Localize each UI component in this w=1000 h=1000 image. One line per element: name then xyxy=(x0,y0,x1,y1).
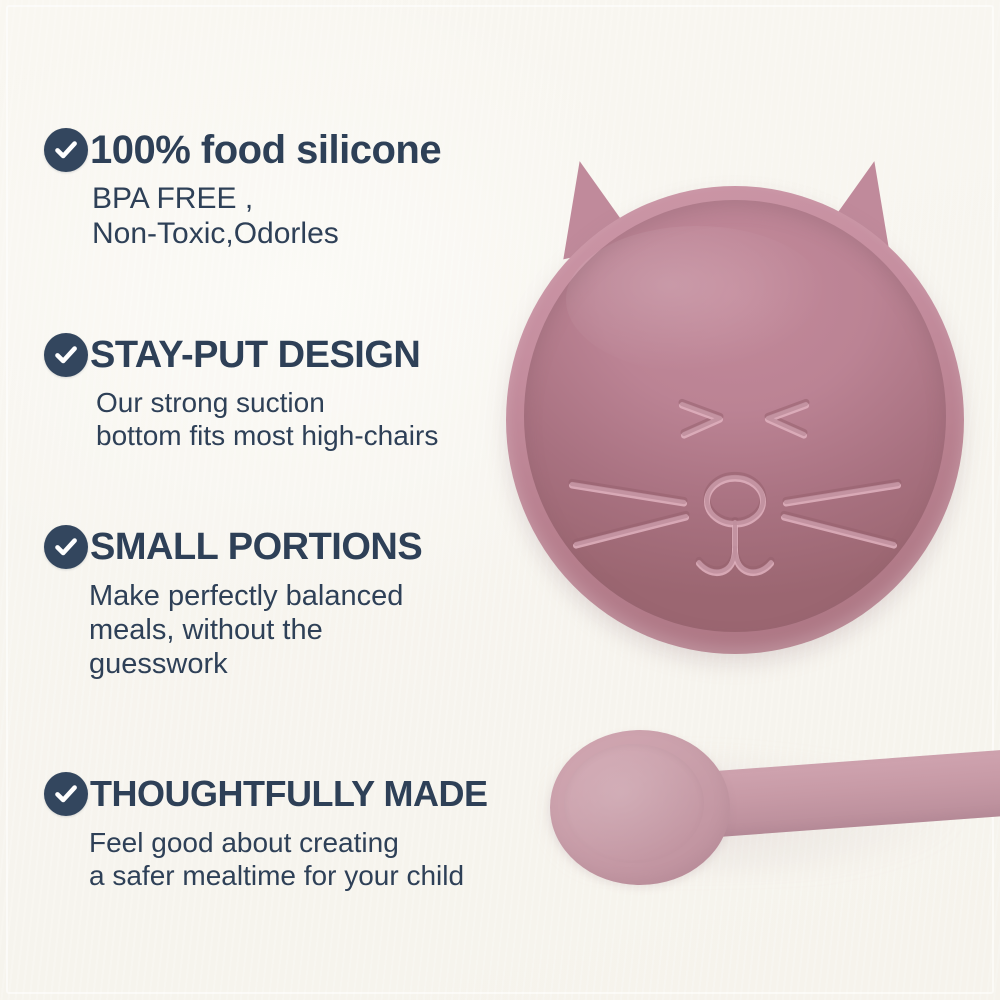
feature-item-small-portions: SMALL PORTIONS Make perfectly balanced m… xyxy=(44,525,422,682)
feature-item-thoughtfully-made: THOUGHTFULLY MADE Feel good about creati… xyxy=(44,772,488,892)
feature-item-stay-put-design: STAY-PUT DESIGN Our strong suction botto… xyxy=(44,333,438,452)
infographic-page: 100% food silicone BPA FREE , Non-Toxic,… xyxy=(0,0,1000,1000)
check-circle-icon xyxy=(44,772,88,816)
cat-bowl xyxy=(464,130,994,675)
feature-title: STAY-PUT DESIGN xyxy=(90,336,420,374)
bowl-rim xyxy=(506,186,964,654)
check-circle-icon xyxy=(44,128,88,172)
check-circle-icon xyxy=(44,333,88,377)
feature-heading-row: STAY-PUT DESIGN xyxy=(44,333,438,377)
feature-title: THOUGHTFULLY MADE xyxy=(90,776,488,812)
spoon-bowl-head xyxy=(550,730,730,885)
feature-heading-row: SMALL PORTIONS xyxy=(44,525,422,569)
feature-item-food-silicone: 100% food silicone BPA FREE , Non-Toxic,… xyxy=(44,128,441,252)
bowl-interior xyxy=(524,200,946,632)
feature-description: BPA FREE , Non-Toxic,Odorles xyxy=(92,181,441,252)
feature-heading-row: 100% food silicone xyxy=(44,128,441,172)
feature-description: Feel good about creating a safer mealtim… xyxy=(89,826,488,892)
feature-list: 100% food silicone BPA FREE , Non-Toxic,… xyxy=(0,0,540,1000)
baby-spoon xyxy=(540,705,1000,920)
feature-title: 100% food silicone xyxy=(90,130,441,170)
check-circle-icon xyxy=(44,525,88,569)
feature-heading-row: THOUGHTFULLY MADE xyxy=(44,772,488,816)
feature-description: Our strong suction bottom fits most high… xyxy=(96,386,438,452)
feature-description: Make perfectly balanced meals, without t… xyxy=(89,579,422,682)
feature-title: SMALL PORTIONS xyxy=(90,528,422,566)
